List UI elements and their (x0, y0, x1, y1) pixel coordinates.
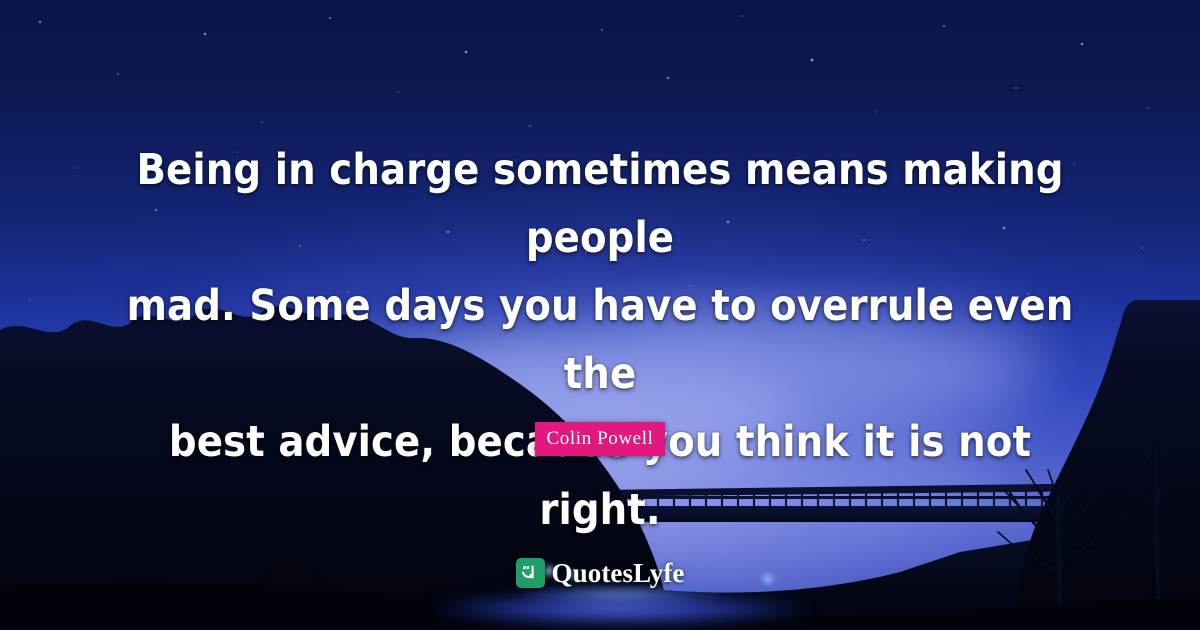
brand-logo[interactable]: QuotesLyfe (0, 558, 1200, 588)
quote-block: Being in charge sometimes means making p… (0, 136, 1200, 544)
author-attribution: Colin Powell (0, 422, 1200, 456)
card-content: Being in charge sometimes means making p… (0, 0, 1200, 630)
brand-name: QuotesLyfe (552, 560, 685, 587)
quote-text: Being in charge sometimes means making p… (112, 136, 1088, 544)
quote-card: Being in charge sometimes means making p… (0, 0, 1200, 630)
author-name-badge[interactable]: Colin Powell (535, 422, 666, 456)
quote-smiley-icon (516, 558, 545, 588)
